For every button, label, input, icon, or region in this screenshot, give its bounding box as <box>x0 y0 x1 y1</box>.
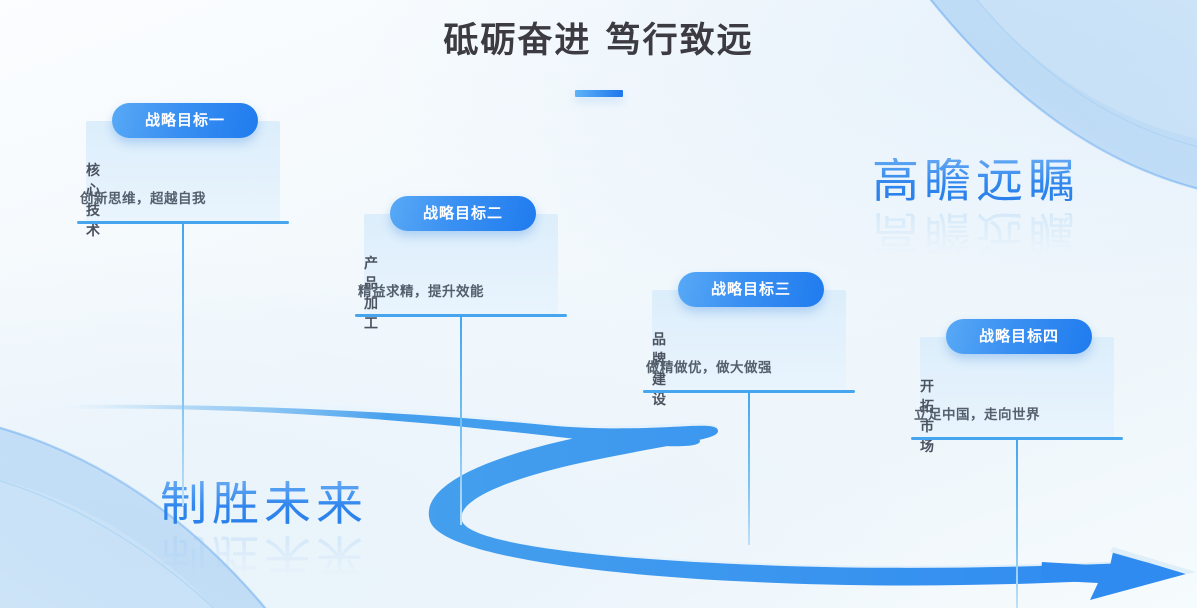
card-subtitle-2: 精益求精，提升效能 <box>358 280 370 300</box>
card-subtitle-4: 立足中国，走向世界 <box>914 403 926 423</box>
page-title: 砥砺奋进 笃行致远 <box>0 20 1197 64</box>
slide-canvas: 高瞻远瞩 高瞻远瞩 制胜未来 制胜未来 砥砺奋进 笃行致远 战略目标一 核心技术… <box>0 0 1197 608</box>
card-badge-1[interactable]: 战略目标一 <box>112 103 258 138</box>
card-badge-2[interactable]: 战略目标二 <box>390 196 536 231</box>
card-connector-stem-1 <box>182 224 184 506</box>
watermark-right-reflection: 高瞻远瞩 <box>872 209 1080 256</box>
card-connector-stem-4 <box>1016 440 1018 608</box>
card-connector-stem-3 <box>748 393 750 545</box>
card-connector-stem-2 <box>460 317 462 525</box>
title-divider <box>575 90 623 97</box>
card-badge-4[interactable]: 战略目标四 <box>946 319 1092 354</box>
watermark-right: 高瞻远瞩 <box>872 158 1080 205</box>
card-badge-3[interactable]: 战略目标三 <box>678 272 824 307</box>
card-subtitle-3: 做精做优，做大做强 <box>646 356 658 376</box>
card-subtitle-1: 创新思维，超越自我 <box>80 187 92 207</box>
title-block: 砥砺奋进 笃行致远 <box>0 20 1197 97</box>
watermark-left-reflection: 制胜未来 <box>160 532 368 579</box>
watermark-left: 制胜未来 <box>160 481 368 528</box>
